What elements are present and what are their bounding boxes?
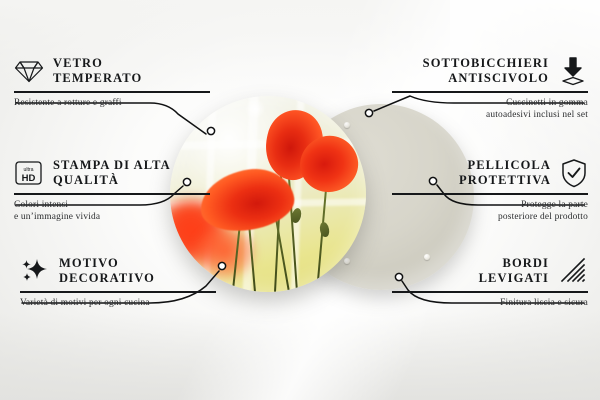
feature-divider: [20, 291, 216, 293]
feature-subtitle-line2: autoadesivi inclusi nel set: [392, 109, 588, 121]
product-infographic: VETRO TEMPERATO Resistente a rotture e g…: [0, 0, 600, 400]
feature-subtitle-line1: Protegge la parte: [392, 199, 588, 211]
feature-title: STAMPA DI ALTA QUALITÀ: [53, 158, 171, 188]
sparkles-icon: [20, 257, 50, 285]
feature-divider: [14, 193, 210, 195]
feature-sottobicchieri-antiscivolo: SOTTOBICCHIERI ANTISCIVOLO Cuscinetti in…: [392, 56, 588, 121]
feature-bordi-levigati: BORDI LEVIGATI Finitura liscia e sicura: [392, 256, 588, 309]
feature-title: MOTIVO DECORATIVO: [59, 256, 155, 286]
feature-subtitle-line2: posteriore del prodotto: [392, 211, 588, 223]
feature-header: SOTTOBICCHIERI ANTISCIVOLO: [392, 56, 588, 86]
ultra-hd-badge-icon: ultra HD: [14, 159, 44, 187]
feature-subtitle-line1: Varietà di motivi per ogni cucina: [20, 297, 216, 309]
feature-header: MOTIVO DECORATIVO: [20, 256, 216, 286]
rubber-pad: [344, 258, 350, 264]
diamond-icon: [14, 58, 44, 84]
shield-check-icon: [560, 158, 588, 188]
feature-stampa-alta-qualita: ultra HD STAMPA DI ALTA QUALITÀ Colori i…: [14, 158, 210, 223]
feature-header: VETRO TEMPERATO: [14, 56, 210, 86]
feature-subtitle-line1: Finitura liscia e sicura: [392, 297, 588, 309]
feature-divider: [392, 91, 588, 93]
feature-title: BORDI LEVIGATI: [479, 256, 549, 286]
feature-title: SOTTOBICCHIERI ANTISCIVOLO: [423, 56, 549, 86]
feature-title: VETRO TEMPERATO: [53, 56, 142, 86]
feature-subtitle-line1: Cuscinetti in gomma: [392, 97, 588, 109]
feature-header: ultra HD STAMPA DI ALTA QUALITÀ: [14, 158, 210, 188]
feature-subtitle-line1: Colori intensi: [14, 199, 210, 211]
feature-divider: [14, 91, 210, 93]
rubber-pad: [344, 122, 350, 128]
feature-subtitle-line2: e un’immagine vivida: [14, 211, 210, 223]
feature-header: BORDI LEVIGATI: [392, 256, 588, 286]
feature-divider: [392, 193, 588, 195]
feature-header: PELLICOLA PROTETTIVA: [392, 158, 588, 188]
ultra-hd-badge-bottom-label: HD: [22, 173, 36, 184]
highlight-sparkle: [244, 98, 266, 120]
press-down-pad-icon: [558, 56, 588, 86]
feature-subtitle-line1: Resistente a rotture e graffi: [14, 97, 210, 109]
feature-divider: [392, 291, 588, 293]
feature-motivo-decorativo: MOTIVO DECORATIVO Varietà di motivi per …: [20, 256, 216, 309]
feature-vetro-temperato: VETRO TEMPERATO Resistente a rotture e g…: [14, 56, 210, 109]
diagonal-lines-icon: [558, 257, 588, 285]
feature-title: PELLICOLA PROTETTIVA: [459, 158, 551, 188]
feature-pellicola-protettiva: PELLICOLA PROTETTIVA Protegge la parte p…: [392, 158, 588, 223]
